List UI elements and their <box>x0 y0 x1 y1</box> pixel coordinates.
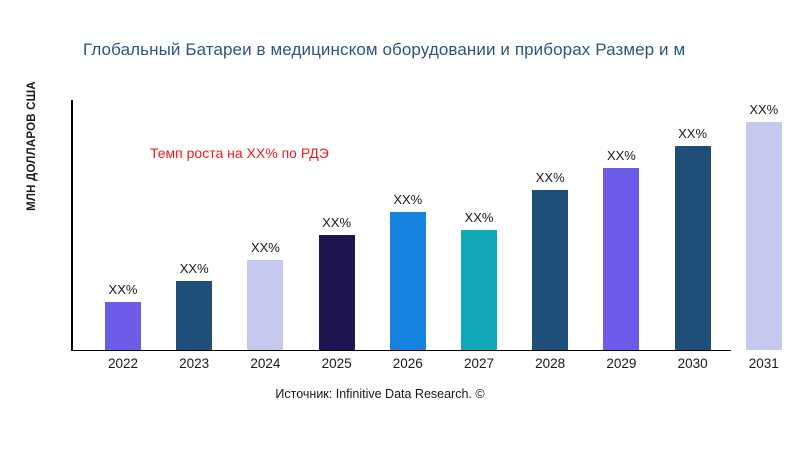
bar-value-label-2031: XX% <box>749 103 778 117</box>
bar-value-label-2027: XX% <box>465 211 494 225</box>
x-axis-tick-labels: 2022202320242025202620272028202920302031 <box>71 355 800 377</box>
bar-2027[interactable] <box>461 230 497 350</box>
source-note: Источник: Infinitive Data Research. © <box>0 386 760 402</box>
bar-value-label-2025: XX% <box>322 216 351 230</box>
x-tick-2024: 2024 <box>235 355 295 373</box>
y-axis-title: МЛН ДОЛЛАРОВ США <box>26 26 38 266</box>
chart-title: Глобальный Батареи в медицинском оборудо… <box>83 38 800 62</box>
x-tick-2028: 2028 <box>520 355 580 373</box>
bar-value-label-2026: XX% <box>393 193 422 207</box>
x-tick-2031: 2031 <box>734 355 794 373</box>
bar-value-label-2029: XX% <box>607 149 636 163</box>
bar-2023[interactable] <box>176 281 212 350</box>
x-tick-2026: 2026 <box>378 355 438 373</box>
x-tick-2022: 2022 <box>93 355 153 373</box>
bar-value-label-2030: XX% <box>678 127 707 141</box>
x-tick-2025: 2025 <box>307 355 367 373</box>
bar-value-label-2022: XX% <box>109 283 138 297</box>
bar-value-label-2024: XX% <box>251 241 280 255</box>
x-tick-2029: 2029 <box>591 355 651 373</box>
bar-2028[interactable] <box>532 190 568 350</box>
bar-2022[interactable] <box>105 302 141 350</box>
bar-2025[interactable] <box>319 235 355 350</box>
x-tick-2023: 2023 <box>164 355 224 373</box>
bar-2031[interactable] <box>746 122 782 350</box>
bar-2026[interactable] <box>390 212 426 350</box>
bars-layer: XX%XX%XX%XX%XX%XX%XX%XX%XX%XX% <box>71 100 800 350</box>
x-tick-2030: 2030 <box>663 355 723 373</box>
bar-value-label-2023: XX% <box>180 262 209 276</box>
bar-2029[interactable] <box>603 168 639 350</box>
x-tick-2027: 2027 <box>449 355 509 373</box>
chart-container: Глобальный Батареи в медицинском оборудо… <box>0 0 800 450</box>
bar-2024[interactable] <box>247 260 283 350</box>
bar-2030[interactable] <box>675 146 711 350</box>
bar-value-label-2028: XX% <box>536 171 565 185</box>
